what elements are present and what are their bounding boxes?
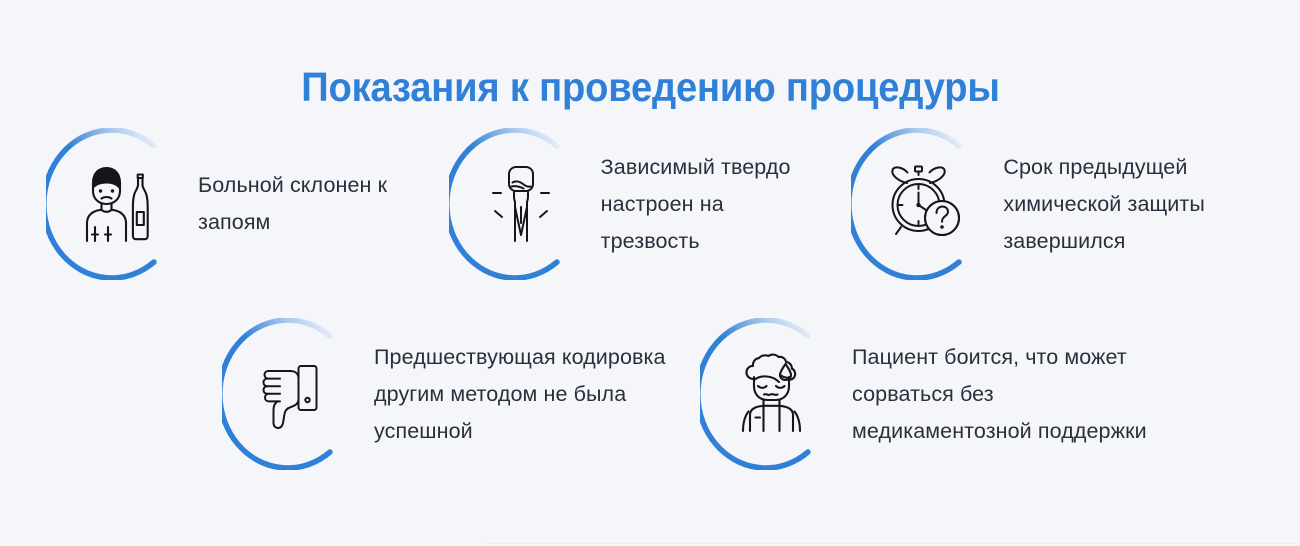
indication-text: Зависимый твердо настроен на трезвость — [601, 149, 816, 260]
indication-item-previous-coding-failed[interactable]: Предшествующая кодировка другим методом … — [222, 318, 692, 470]
man-with-bottle-icon — [80, 163, 156, 245]
worried-person-sweating-icon — [734, 353, 810, 435]
icon-badge — [700, 318, 844, 470]
page-title: Показания к проведению процедуры — [301, 65, 999, 110]
indication-item-previous-protection-expired[interactable]: Срок предыдущей химической защиты заверш… — [851, 128, 1254, 280]
indication-text: Пациент боится, что может сорваться без … — [852, 339, 1170, 450]
indication-text: Предшествующая кодировка другим методом … — [374, 339, 692, 450]
thumbs-down-icon — [256, 353, 332, 435]
indication-item-firm-sobriety[interactable]: Зависимый твердо настроен на трезвость — [449, 128, 852, 280]
indication-item-fear-of-relapse[interactable]: Пациент боится, что может сорваться без … — [700, 318, 1170, 470]
icon-badge — [449, 128, 593, 280]
indication-text: Больной склонен к запоям — [198, 167, 438, 241]
indications-row-2: Предшествующая кодировка другим методом … — [0, 318, 1300, 470]
bottom-divider — [487, 543, 1300, 544]
icon-badge — [851, 128, 995, 280]
page-title-container: Показания к проведению процедуры — [0, 38, 1300, 138]
icon-badge — [222, 318, 366, 470]
indication-text: Срок предыдущей химической защиты заверш… — [1003, 149, 1253, 260]
indications-row-1: Больной склонен к запоям — [0, 128, 1300, 280]
indication-item-binge-prone[interactable]: Больной склонен к запоям — [46, 128, 449, 280]
alarm-clock-question-icon — [885, 163, 961, 245]
indications-infographic: Показания к проведению процедуры — [0, 0, 1300, 546]
icon-badge — [46, 128, 190, 280]
standing-person-determined-icon — [483, 163, 559, 245]
